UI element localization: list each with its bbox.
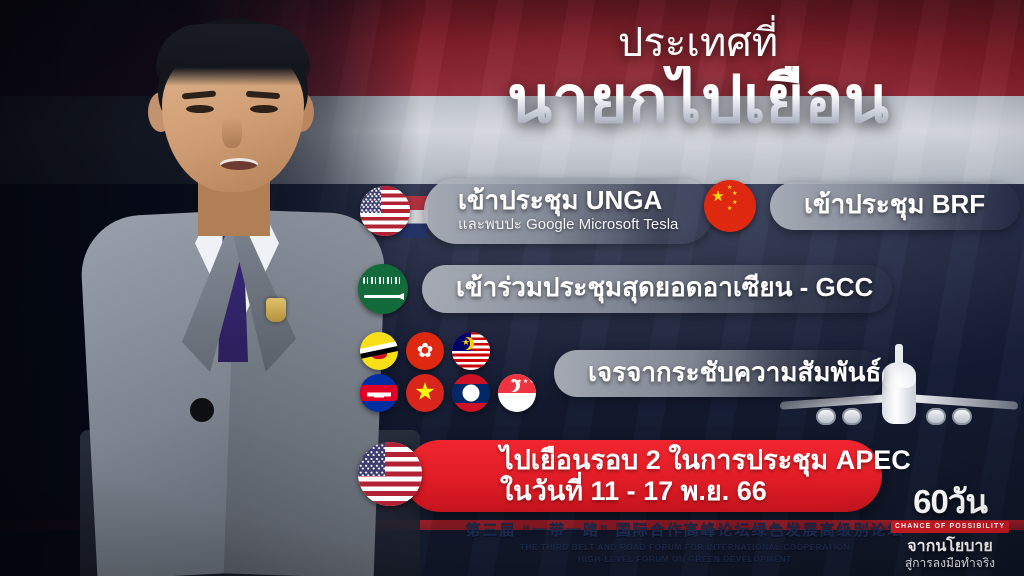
title-line-2: นายกไปเยือน	[398, 66, 998, 133]
list-item[interactable]: เข้าประชุม UNGA และพบปะ Google Microsoft…	[360, 178, 714, 244]
flag-united-states-icon	[360, 186, 410, 236]
microphone	[190, 398, 214, 422]
flag-cluster-asean: ✿ ★ ★	[358, 332, 538, 412]
airplane-nose	[882, 362, 916, 388]
forum-text-english-1: THE THIRD BELT AND ROAD FORUM FOR INTERN…	[420, 544, 950, 553]
person-photo	[70, 0, 380, 576]
flag-singapore-icon: ★★★★★	[498, 374, 536, 412]
banner-line-1: ไปเยือนรอบ 2 ในการประชุม APEC	[500, 445, 911, 476]
row-label: เจรจากระชับความสัมพันธ์	[588, 358, 850, 387]
flag-china-icon: ★ ★★ ★★	[704, 180, 756, 232]
flag-brunei-icon	[360, 332, 398, 370]
page-title: ประเทศที่ นายกไปเยือน	[398, 22, 998, 133]
row-label: เข้าประชุม BRF	[804, 190, 986, 219]
flag-saudi-arabia-icon	[358, 264, 408, 314]
infographic-canvas: 第三届 “一带一路” 国际合作高峰论坛绿色发展高级别论坛 THE THIRD B…	[0, 0, 1024, 576]
flag-vietnam-icon: ★	[406, 374, 444, 412]
flag-cambodia-icon	[360, 374, 398, 412]
lapel-pin	[266, 298, 286, 322]
mouth	[220, 158, 258, 170]
forum-backdrop-text: 第三届 “一带一路” 国际合作高峰论坛绿色发展高级别论坛 THE THIRD B…	[420, 520, 950, 576]
list-item[interactable]: ✿ ★ ★	[358, 332, 884, 412]
apec-banner[interactable]: ไปเยือนรอบ 2 ในการประชุม APEC ในวันที่ 1…	[404, 440, 882, 512]
forum-text-english-2: HIGH-LEVEL FORUM ON GREEN DEVELOPMENT	[420, 556, 950, 565]
airplane-engine	[926, 408, 946, 425]
list-item[interactable]: ★ ★★ ★★ เข้าประชุม BRF	[704, 180, 1020, 232]
row-pill-asean-gcc[interactable]: เข้าร่วมประชุมสุดยอดอาเซียน - GCC	[422, 265, 892, 312]
flag-slot	[358, 332, 400, 370]
flag-slot: ★	[404, 374, 446, 412]
row-pill-relations[interactable]: เจรจากระชับความสัมพันธ์	[554, 350, 884, 397]
logo-tagline-2: สู่การลงมือทำจริง	[884, 556, 1016, 570]
flag-laos-icon	[452, 374, 490, 412]
eye-right	[250, 105, 278, 113]
hair-front	[156, 24, 310, 86]
logo-tagline-1: จากนโยบาย	[884, 538, 1016, 556]
flag-slot	[358, 374, 400, 412]
row-sublabel: และพบปะ Google Microsoft Tesla	[458, 216, 680, 234]
nose	[222, 116, 242, 148]
list-item[interactable]: เข้าร่วมประชุมสุดยอดอาเซียน - GCC	[358, 264, 892, 314]
airplane-engine	[952, 408, 972, 425]
campaign-logo: 60วัน CHANCE OF POSSIBILITY จากนโยบาย สู…	[884, 485, 1016, 570]
logo-title: 60วัน	[884, 485, 1016, 518]
row-label: เข้าร่วมประชุมสุดยอดอาเซียน - GCC	[456, 273, 858, 302]
row-label: เข้าประชุม UNGA	[458, 186, 680, 215]
flag-united-states-icon	[358, 442, 422, 506]
banner-line-2: ในวันที่ 11 - 17 พ.ย. 66	[500, 476, 911, 507]
logo-badge: CHANCE OF POSSIBILITY	[891, 521, 1009, 533]
title-line-1: ประเทศที่	[398, 22, 998, 64]
flag-slot: ★	[450, 332, 492, 370]
forum-text-chinese: 第三届 “一带一路” 国际合作高峰论坛绿色发展高级别论坛	[420, 520, 950, 540]
flag-slot	[450, 374, 492, 412]
eye-left	[186, 105, 214, 113]
flag-slot: ★★★★★	[496, 374, 538, 412]
row-pill-unga[interactable]: เข้าประชุม UNGA และพบปะ Google Microsoft…	[424, 178, 714, 244]
flag-malaysia-icon: ★	[452, 332, 490, 370]
flag-slot: ✿	[404, 332, 446, 370]
row-pill-brf[interactable]: เข้าประชุม BRF	[770, 182, 1020, 229]
flag-hong-kong-icon: ✿	[406, 332, 444, 370]
flag-slot-empty	[496, 332, 538, 370]
